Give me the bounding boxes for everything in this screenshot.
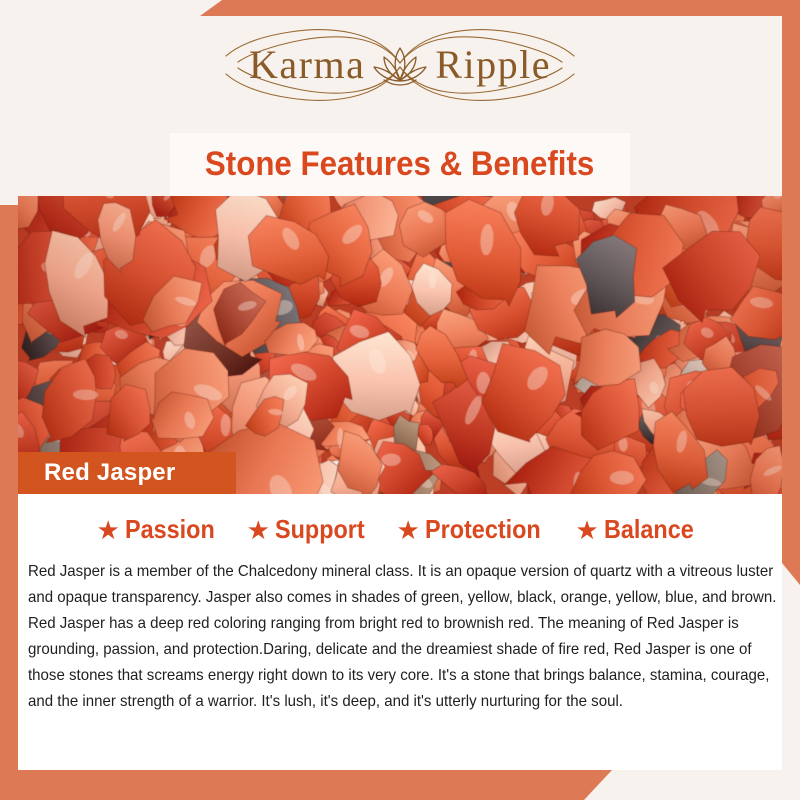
stone-name-label: Red Jasper bbox=[44, 459, 175, 487]
star-icon: ★ bbox=[397, 517, 420, 543]
benefit-keyword-label: Balance bbox=[604, 514, 694, 545]
brand-wordmark: Karma Ripple bbox=[249, 42, 551, 88]
red-jasper-stones-image bbox=[18, 196, 782, 494]
lotus-icon bbox=[371, 42, 429, 88]
brand-word-karma: Karma bbox=[249, 45, 365, 85]
section-title-banner: Stone Features & Benefits bbox=[170, 133, 630, 196]
brand-logo: Karma Ripple bbox=[210, 22, 590, 108]
star-icon: ★ bbox=[575, 517, 598, 543]
frame-band-bottom bbox=[0, 770, 612, 800]
stone-name-ribbon: Red Jasper bbox=[18, 452, 236, 494]
benefit-keyword-label: Passion bbox=[125, 514, 215, 545]
benefit-keyword: ★ Passion bbox=[97, 514, 225, 545]
benefit-keyword: ★ Support bbox=[247, 514, 375, 545]
description-panel: ★ Passion ★ Support ★ Protection ★ Balan… bbox=[18, 494, 782, 770]
brand-header: Karma Ripple bbox=[0, 0, 800, 130]
page-title: Stone Features & Benefits bbox=[205, 145, 594, 184]
frame-band-left bbox=[0, 205, 18, 800]
stone-description-text: Red Jasper is a member of the Chalcedony… bbox=[28, 559, 781, 715]
benefit-keyword-label: Protection bbox=[425, 514, 541, 545]
benefit-keyword-label: Support bbox=[275, 514, 365, 545]
benefit-keyword: ★ Balance bbox=[575, 514, 703, 545]
product-info-card: Karma Ripple Stone Features & Benefits bbox=[0, 0, 800, 800]
hero-stone-photo bbox=[18, 196, 782, 494]
star-icon: ★ bbox=[247, 517, 270, 543]
benefit-keyword: ★ Protection bbox=[397, 514, 554, 545]
star-icon: ★ bbox=[97, 517, 120, 543]
benefit-keyword-row: ★ Passion ★ Support ★ Protection ★ Balan… bbox=[18, 494, 782, 549]
brand-word-ripple: Ripple bbox=[435, 45, 551, 85]
